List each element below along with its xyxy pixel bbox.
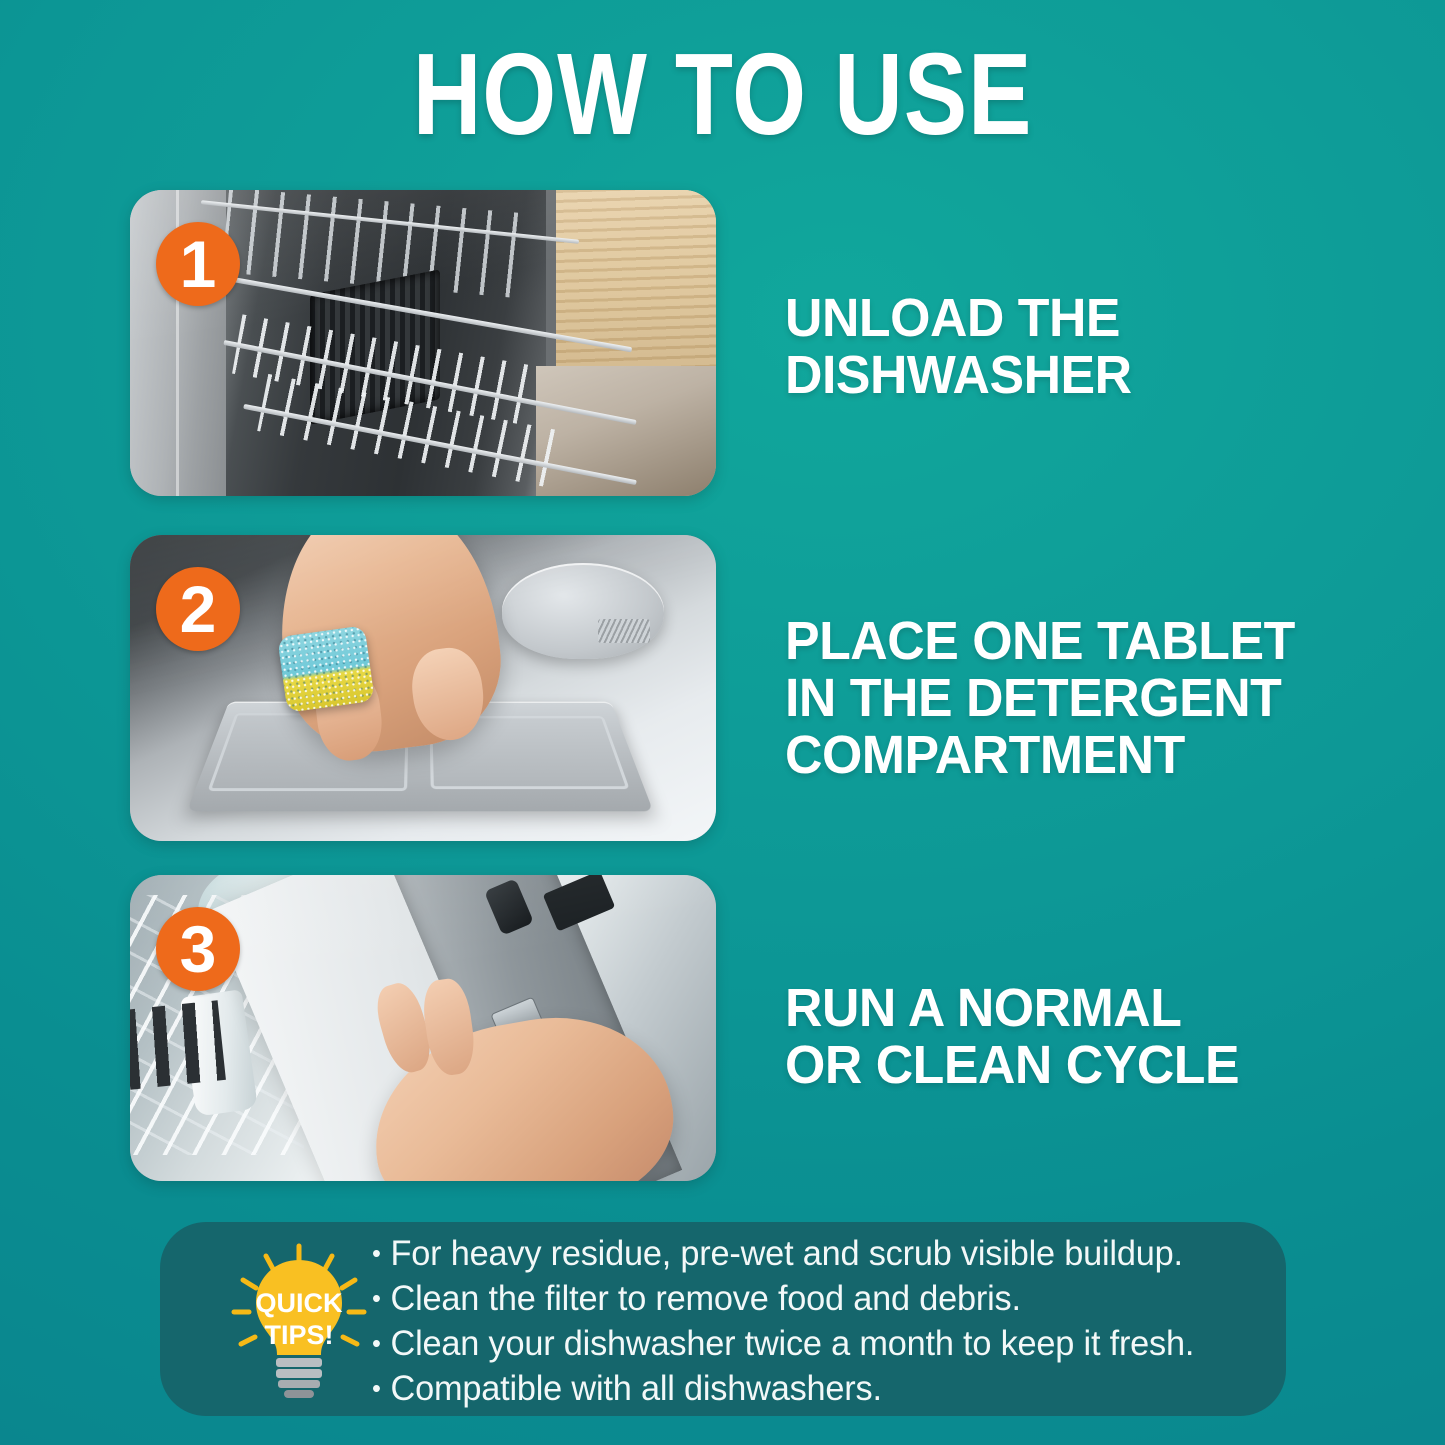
detergent-tablet — [277, 625, 375, 713]
tips-label: TIPS! — [264, 1320, 333, 1350]
step-heading-line: RUN A NORMAL — [785, 980, 1380, 1037]
quick-tips-list: For heavy residue, pre-wet and scrub vis… — [372, 1231, 1249, 1411]
tip-item: Clean your dishwasher twice a month to k… — [372, 1321, 1249, 1366]
step-heading-2: PLACE ONE TABLET IN THE DETERGENT COMPAR… — [785, 613, 1380, 785]
tip-item: Compatible with all dishwashers. — [372, 1366, 1249, 1411]
step-row-2: 2 PLACE ONE TABLET IN THE DETERGENT COMP… — [0, 535, 1445, 845]
step-heading-line: COMPARTMENT — [785, 727, 1380, 784]
quick-label: QUICK — [256, 1288, 344, 1318]
quick-tips-panel: QUICK TIPS! For heavy residue, pre-wet a… — [160, 1222, 1286, 1416]
hand-pressing-control-panel-photo: Auto Off 3 — [130, 875, 716, 1181]
step-heading-line: UNLOAD THE — [785, 290, 1380, 347]
step-heading-line: PLACE ONE TABLET — [785, 613, 1380, 670]
step-heading-1: UNLOAD THE DISHWASHER — [785, 290, 1380, 404]
step-number-badge-3: 3 — [156, 907, 240, 991]
step-heading-line: DISHWASHER — [785, 347, 1380, 404]
tip-item: For heavy residue, pre-wet and scrub vis… — [372, 1231, 1249, 1276]
step-row-3: Auto Off 3 RUN A NORMAL OR CLEAN CYCLE — [0, 875, 1445, 1185]
step-row-1: 1 UNLOAD THE DISHWASHER — [0, 190, 1445, 500]
how-to-use-poster: HOW TO USE 1 UNLOAD THE — [0, 0, 1445, 1445]
step-heading-3: RUN A NORMAL OR CLEAN CYCLE — [785, 980, 1380, 1094]
lightbulb-icon: QUICK TIPS! — [226, 1240, 372, 1400]
tip-item: Clean the filter to remove food and debr… — [372, 1276, 1249, 1321]
open-empty-dishwasher-photo: 1 — [130, 190, 716, 496]
step-number-badge-2: 2 — [156, 567, 240, 651]
step-number-badge-1: 1 — [156, 222, 240, 306]
page-title: HOW TO USE — [130, 36, 1315, 152]
step-heading-line: OR CLEAN CYCLE — [785, 1037, 1380, 1094]
hand-placing-tablet-photo: 2 — [130, 535, 716, 841]
step-heading-line: IN THE DETERGENT — [785, 670, 1380, 727]
